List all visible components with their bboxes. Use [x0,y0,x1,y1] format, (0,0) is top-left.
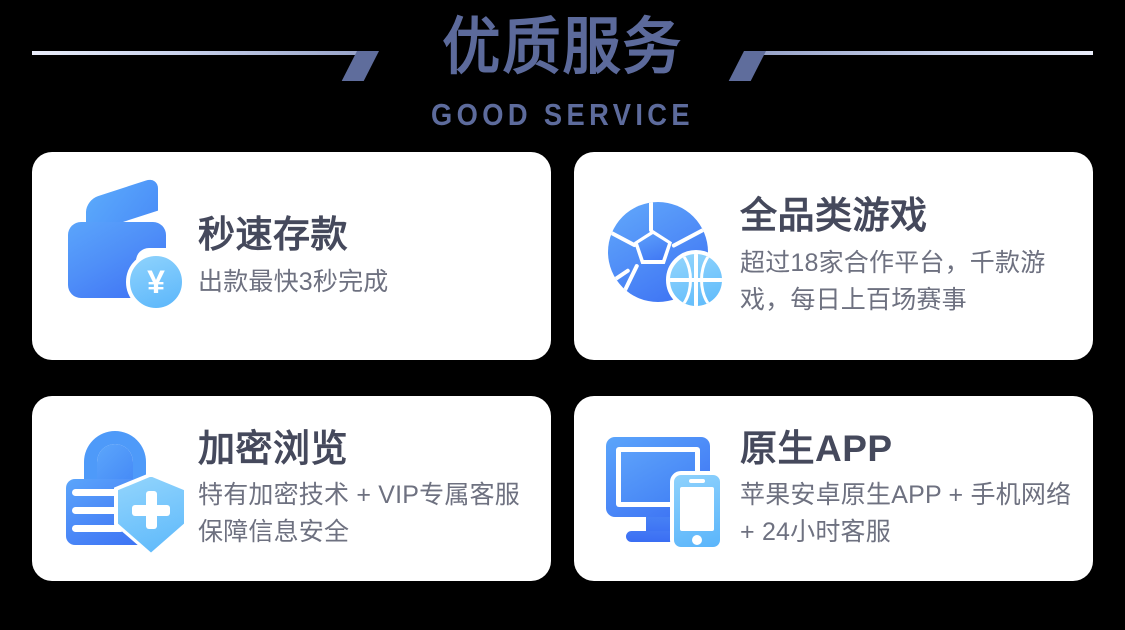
soccer-seam-left [608,228,637,247]
card-subtitle: 超过18家合作平台，千款游戏，每日上百场赛事 [740,245,1075,319]
phone-home-button [692,535,702,545]
card-title: 秒速存款 [198,212,533,258]
card-subtitle: 苹果安卓原生APP + 手机网络 + 24小时客服 [740,477,1075,551]
lock-shield-icon [60,427,192,551]
page-header: 优质服务 GOOD SERVICE [0,0,1125,148]
card-text-block: 加密浏览 特有加密技术 + VIP专属客服保障信息安全 [192,426,533,551]
card-subtitle: 出款最快3秒完成 [198,264,533,301]
yen-coin-icon: ¥ [126,252,186,312]
soccer-seam-top [649,202,653,232]
feature-card-games[interactable]: 全品类游戏 超过18家合作平台，千款游戏，每日上百场赛事 [574,152,1093,360]
card-text-block: 秒速存款 出款最快3秒完成 [192,212,533,301]
soccer-seam-right [671,228,705,248]
monitor-phone-icon [602,427,734,551]
basketball-seam-left-curve [666,250,692,310]
phone-speaker-shape [689,479,705,483]
card-text-block: 全品类游戏 超过18家合作平台，千款游戏，每日上百场赛事 [734,193,1075,319]
feature-card-native-app[interactable]: 原生APP 苹果安卓原生APP + 手机网络 + 24小时客服 [574,396,1093,581]
page-title: 优质服务 [34,8,1092,86]
feature-card-grid: ¥ 秒速存款 出款最快3秒完成 [32,152,1093,581]
phone-screen-shape [680,487,714,531]
plus-icon-vertical [146,491,157,529]
feature-card-encryption[interactable]: 加密浏览 特有加密技术 + VIP专属客服保障信息安全 [32,396,551,581]
card-subtitle: 特有加密技术 + VIP专属客服保障信息安全 [198,477,533,551]
card-title: 全品类游戏 [740,193,1075,239]
basketball-icon [666,250,726,310]
card-title: 加密浏览 [198,426,533,472]
wallet-yen-icon: ¥ [60,194,192,318]
soccer-basketball-icon [602,194,734,318]
feature-card-deposit[interactable]: ¥ 秒速存款 出款最快3秒完成 [32,152,551,360]
page-subtitle: GOOD SERVICE [68,97,1058,133]
card-text-block: 原生APP 苹果安卓原生APP + 手机网络 + 24小时客服 [734,426,1075,551]
card-title: 原生APP [740,426,1075,472]
basketball-seam-right-curve [700,250,726,310]
